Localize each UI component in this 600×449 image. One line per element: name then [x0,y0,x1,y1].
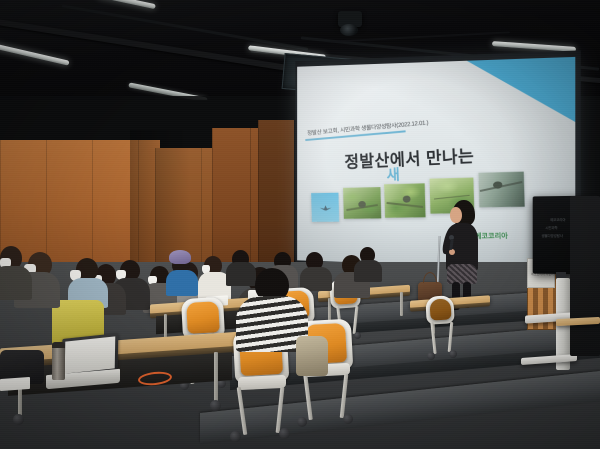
bird-silhouette-icon [493,181,502,188]
chair-seat[interactable] [238,375,286,391]
bird-in-flight-photo [311,193,339,222]
desk-leg [400,292,403,316]
presenter-face [450,207,462,223]
ceiling-conduit [330,31,510,42]
chair-caster [354,332,361,339]
monitor-label-line-1: 에코코리아 [550,218,565,223]
slide-accent-triangle [467,57,576,124]
presenter-skirt [447,264,477,284]
slide-title: 정발산에서 만나는 [344,142,475,173]
ceiling-conduit [62,4,309,50]
chair-caster [230,431,241,442]
ceiling-light [96,0,156,9]
laptop-display [65,336,116,373]
chair-caster [297,417,307,427]
audience-torso [354,260,382,282]
desk-caster [13,414,24,425]
audience-torso [166,270,198,296]
projector-lens [340,24,358,36]
audience-torso [0,266,32,300]
bird-silhouette-icon [320,204,332,213]
chair-caster [279,428,290,439]
bird-silhouette-icon [358,201,366,208]
slide-subtitle: 새 [386,164,400,185]
lecture-hall-photo: 정발산 보고회, 시민과학 생물다양성탐사(2022.12.01.) 정발산에서… [0,0,600,449]
desk-caster [210,400,221,411]
branch [387,202,424,208]
bird-in-foliage-photo-2 [384,183,425,217]
chair-caster [343,414,353,424]
draped-coat [296,336,328,376]
bird-on-branch-photo [478,172,524,208]
tumbler [52,346,65,380]
chair-caster [427,352,435,360]
beanie-hat [169,250,191,264]
ceiling-light [0,43,70,65]
chair-caster [449,350,457,358]
right-dark-panel [570,196,600,356]
papers [0,377,30,391]
audience-torso [226,262,256,286]
monitor-label-line-2: 시민과학 [545,226,557,231]
bird-in-foliage-photo-1 [343,187,381,219]
monitor-label-line-3: 생물다양성탐사 [541,234,562,239]
desk-leg [214,352,218,402]
tumbler-lid [52,342,65,348]
chair-backrest[interactable] [429,298,451,320]
bird-silhouette-icon [403,196,411,203]
chair-backrest[interactable] [186,301,220,334]
